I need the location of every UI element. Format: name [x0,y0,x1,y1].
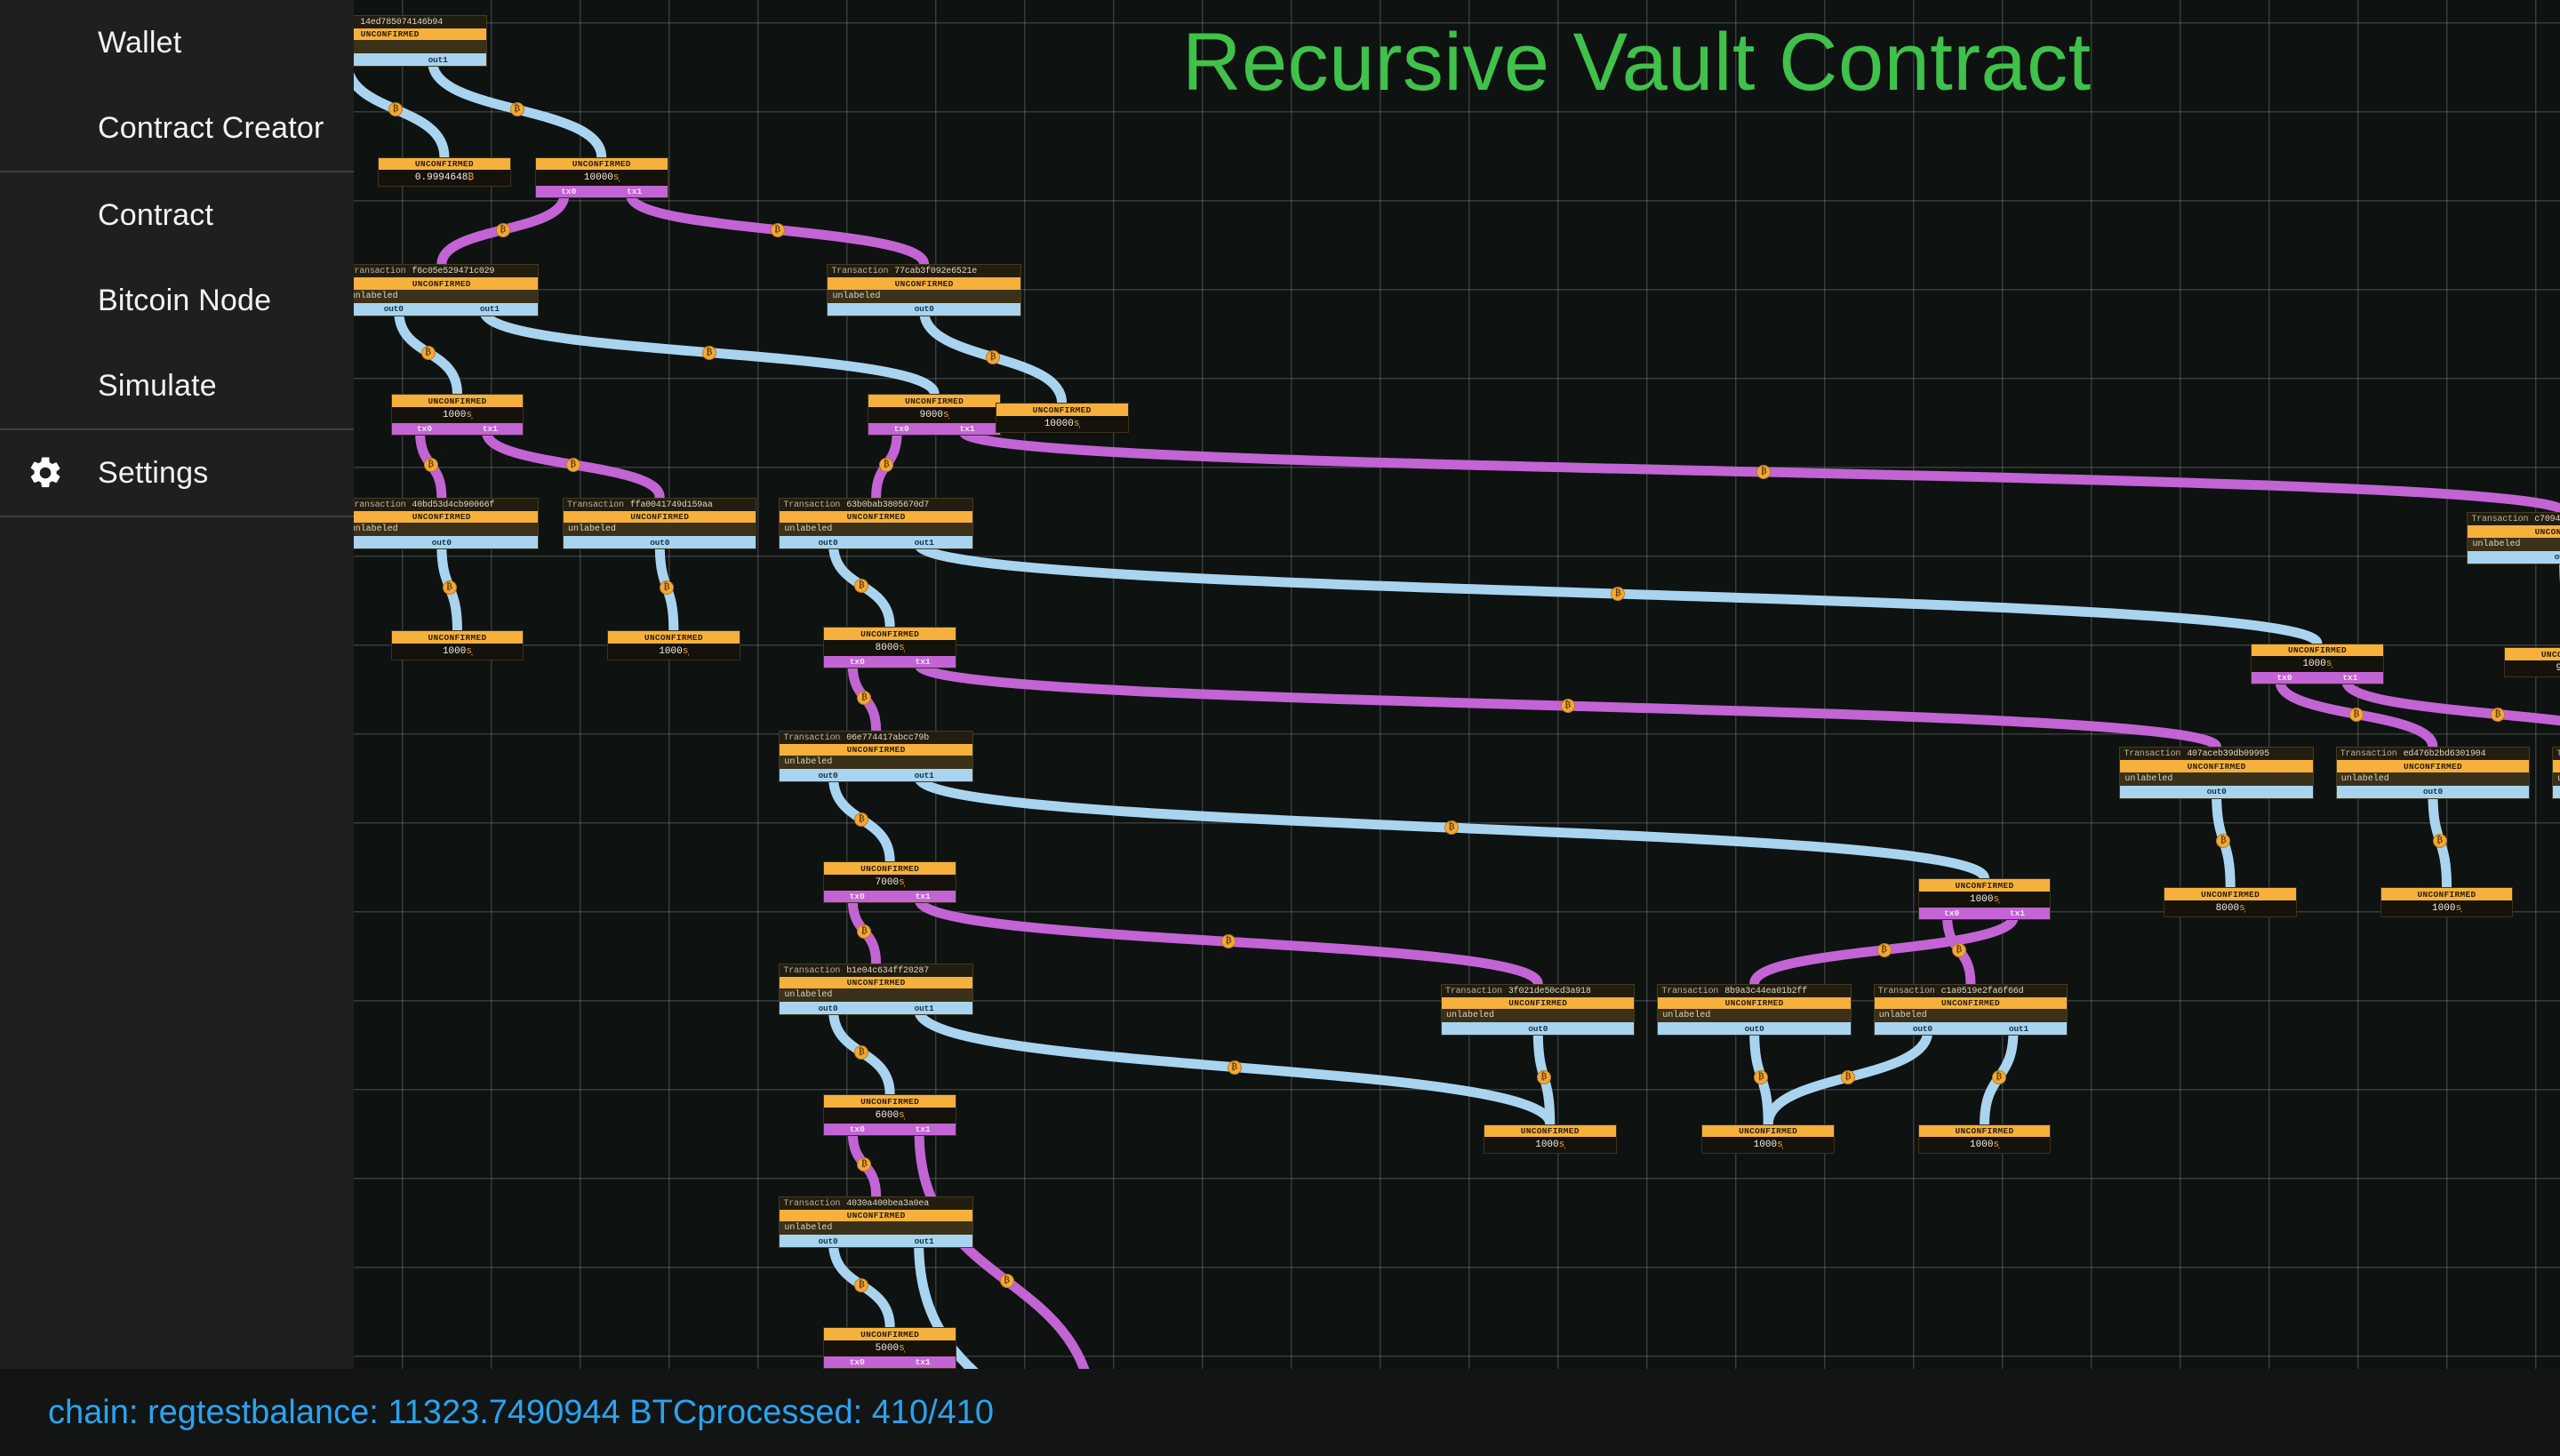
status-bar: chain: regtestbalance: 11323.7490944 BTC… [0,1369,2560,1456]
transaction-node[interactable]: Transaction2b00d25944e4d977UNCONFIRMEDun… [2552,747,2560,799]
utxo-amount: 10000s̩ [996,416,1128,432]
coin-marker: ₿ [2433,834,2447,848]
transaction-prefix: Transaction [783,966,840,976]
utxo-amount-value: 1000 [1754,1140,1777,1150]
coin-marker: ₿ [566,458,580,472]
transaction-prefix: Transaction [2124,749,2180,759]
status-badge: UNCONFIRMED [824,1095,956,1108]
utxo-amount: 1000s̩ [1919,1137,2051,1153]
sidebar-item-label: Contract [98,198,213,233]
transaction-hash: 63b0bab3805670d7 [846,500,929,510]
status-badge: UNCONFIRMED [868,395,1000,407]
transaction-hash: c70942c9030b73d5 [2534,515,2560,524]
coin-marker: ₿ [1952,943,1966,957]
utxo-unit-symbol: s̩ [2455,903,2461,914]
sidebar-item-settings[interactable]: Settings [0,430,354,516]
coin-marker: ₿ [1841,1070,1855,1084]
coin-marker: ₿ [1992,1070,2006,1084]
transaction-prefix: Transaction [354,267,405,276]
transaction-hash: f6c05e529471c029 [412,267,494,276]
transaction-label: funding [354,40,486,53]
transaction-header: Transactionb1e04c634ff20287 [780,964,972,977]
status-badge: UNCONFIRMED [1919,879,2051,892]
coin-marker: ₿ [879,458,893,472]
transaction-outputs-row[interactable]: out0 [2468,551,2560,564]
output-port-0[interactable]: out0 [780,538,876,548]
utxo-amount: 10000s̩ [536,170,668,186]
output-port-0[interactable]: out0 [354,304,442,314]
page-title: Recursive Vault Contract [1182,16,2092,109]
status-badge: UNCONFIRMED [824,862,956,875]
status-badge: UNCONFIRMED [780,1210,972,1222]
utxo-spends-row[interactable]: tx0tx1 [824,891,956,902]
transaction-prefix: Transaction [783,1199,840,1209]
spend-port-0[interactable]: tx0 [824,656,890,668]
utxo-node[interactable]: UNCONFIRMED9000s̩tx0tx1 [868,394,1001,436]
transaction-node[interactable]: Transaction407aceb39db09995UNCONFIRMEDun… [2119,747,2313,799]
utxo-amount: 9000s̩ [868,407,1000,423]
transaction-hash: 77cab3f092e6521e [894,267,977,276]
transaction-label: unlabeled [1658,1009,1850,1022]
transaction-prefix: Transaction [783,500,840,510]
transaction-label: unlabeled [780,523,972,536]
transaction-header: Transaction4030a400bea3a0ea [780,1197,972,1210]
status-badge: UNCONFIRMED [780,511,972,524]
utxo-amount: 1000s̩ [392,407,524,423]
spend-port-1[interactable]: tx1 [890,1124,956,1135]
utxo-node[interactable]: UNCONFIRMED5000s̩tx0tx1 [823,1327,956,1369]
graph-edges [354,0,2560,1369]
sidebar-item-contract[interactable]: Contract [0,172,354,258]
transaction-header: Transaction77cab3f092e6521e [828,265,1020,277]
status-badge: UNCONFIRMED [2468,525,2560,538]
spend-port-0[interactable]: tx0 [1919,908,1985,919]
utxo-node[interactable]: UNCONFIRMED8000s̩tx0tx1 [823,627,956,668]
output-port-0[interactable]: out0 [354,55,390,65]
transaction-header: Transaction3f021de50cd3a918 [1442,985,1634,997]
transaction-label: unlabeled [564,523,756,536]
coin-marker: ₿ [854,579,868,593]
utxo-amount-value: 1000 [2432,903,2455,914]
status-badge: UNCONFIRMED [1919,1125,2051,1138]
spend-port-1[interactable]: tx1 [934,423,1000,435]
utxo-unit-symbol: s̩ [1777,1140,1783,1150]
status-badge: UNCONFIRMED [2164,888,2296,900]
status-badge: UNCONFIRMED [780,977,972,989]
output-port-0[interactable]: out0 [780,771,876,780]
utxo-amount-value: 1000 [2302,659,2325,669]
transaction-label: unlabeled [1875,1009,2067,1022]
utxo-amount-value: 8000 [876,643,899,653]
utxo-unit-symbol: s̩ [899,1343,905,1354]
transaction-header: Transactionc70942c9030b73d5 [2468,513,2560,525]
output-port-0[interactable]: out0 [2120,787,2312,796]
utxo-amount-value: 8000 [2216,903,2239,914]
utxo-node[interactable]: UNCONFIRMED1000s̩ [607,630,740,660]
spend-port-1[interactable]: tx1 [2317,672,2383,684]
utxo-unit-symbol: s̩ [613,172,620,183]
transaction-prefix: Transaction [1445,987,1502,996]
utxo-unit-symbol: s̩ [1993,1140,1999,1150]
transaction-outputs-row[interactable]: out0 [2120,786,2312,798]
coin-marker: ₿ [1537,1070,1551,1084]
utxo-amount-value: 1000 [659,646,682,657]
transaction-node[interactable]: Transactionc1a0519e2fa6f66dUNCONFIRMEDun… [1874,984,2068,1036]
transaction-node[interactable]: Transaction63b0bab3805670d7UNCONFIRMEDun… [779,498,972,550]
utxo-amount: 8000s̩ [824,640,956,656]
coin-marker: ₿ [771,223,785,237]
output-port-0[interactable]: out0 [1442,1024,1634,1034]
utxo-unit-symbol: ₿ [468,172,474,183]
sidebar-item-wallet[interactable]: Wallet [0,0,354,85]
utxo-amount: 6000s̩ [824,1108,956,1124]
sidebar-item-label: Settings [98,456,208,491]
utxo-amount: 8000s̩ [2164,900,2296,916]
transaction-label: unlabeled [780,1221,972,1235]
transaction-label: unlabeled [2120,772,2312,786]
output-port-1[interactable]: out1 [876,771,972,780]
utxo-unit-symbol: s̩ [2326,659,2332,669]
utxo-amount: 1000s̩ [2381,900,2513,916]
utxo-spends-row[interactable]: tx0tx1 [824,1356,956,1368]
utxo-amount-value: 1000 [1535,1140,1558,1150]
transaction-label: unlabeled [354,523,538,536]
coin-marker: ₿ [1000,1274,1014,1288]
utxo-amount: 0.9994648₿ [379,170,510,186]
status-badge: UNCONFIRMED [379,158,510,171]
utxo-unit-symbol: s̩ [899,877,905,888]
utxo-unit-symbol: s̩ [466,410,472,420]
utxo-node[interactable]: UNCONFIRMED1000s̩ [1701,1124,1835,1155]
spend-port-0[interactable]: tx0 [2252,672,2317,684]
output-port-1[interactable]: out1 [876,1236,972,1246]
status-badge: UNCONFIRMED [1702,1125,1834,1138]
coin-marker: ₿ [1877,943,1892,957]
utxo-amount: 1000s̩ [1919,892,2051,908]
transaction-node[interactable]: Transaction8b9a3c44ea01b2ffUNCONFIRMEDun… [1657,984,1851,1036]
status-badge: UNCONFIRMED [1442,997,1634,1010]
spend-port-0[interactable]: tx0 [824,891,890,902]
utxo-amount: 9000s̩ [2505,660,2560,676]
transaction-outputs-row[interactable]: out0out1 [780,769,972,781]
utxo-amount: 1000s̩ [1702,1137,1834,1153]
gear-icon [27,454,73,492]
status-badge: UNCONFIRMED [608,631,740,644]
status-badge: UNCONFIRMED [2553,760,2560,772]
transaction-hash: 3f021de50cd3a918 [1508,987,1591,996]
transaction-header: Transactioned476b2bd6301904 [2337,748,2529,760]
coin-marker: ₿ [2491,708,2505,722]
utxo-node[interactable]: UNCONFIRMED1000s̩tx0tx1 [391,394,524,436]
output-port-0[interactable]: out0 [780,1236,876,1246]
spend-port-0[interactable]: tx0 [392,423,458,435]
output-port-1[interactable]: out1 [390,55,486,65]
transaction-outputs-row[interactable]: out0out1 [1875,1022,2067,1035]
transaction-label: unlabeled [780,988,972,1002]
utxo-node[interactable]: UNCONFIRMED1000s̩ [1918,1124,2052,1155]
utxo-amount-value: 1000 [1970,1140,1993,1150]
output-port-1[interactable]: out1 [1971,1024,2067,1034]
utxo-unit-symbol: s̩ [2239,903,2245,914]
transaction-prefix: Transaction [2340,749,2397,759]
transaction-outputs-row[interactable]: out0 [354,536,538,548]
transaction-hash: ed476b2bd6301904 [2404,749,2486,759]
status-badge: UNCONFIRMED [564,511,756,524]
transaction-prefix: Transaction [831,267,888,276]
transaction-prefix: Transaction [783,733,840,743]
utxo-amount-value: 1000 [1970,894,1993,905]
transaction-outputs-row[interactable]: out0out1 [780,1002,972,1014]
transaction-node[interactable]: Transaction06e774417abcc79bUNCONFIRMEDun… [779,731,972,783]
spend-port-1[interactable]: tx1 [602,186,668,197]
coin-marker: ₿ [424,458,438,472]
coin-marker: ₿ [2349,708,2364,722]
utxo-amount-value: 7000 [876,877,899,888]
utxo-node[interactable]: UNCONFIRMED1000s̩ [391,630,524,660]
transaction-prefix: Transaction [2556,749,2560,759]
transaction-node[interactable]: Transaction77cab3f092e6521eUNCONFIRMEDun… [827,264,1020,316]
status-badge: UNCONFIRMED [996,404,1128,416]
utxo-spends-row[interactable]: tx0tx1 [868,423,1000,435]
coin-marker: ₿ [1228,1060,1242,1075]
output-port-0[interactable]: out0 [354,538,538,548]
output-port-0[interactable]: out0 [1875,1024,1971,1034]
spend-port-0[interactable]: tx0 [824,1124,890,1135]
transaction-hash: ffa0041749d159aa [630,500,713,510]
transaction-prefix: Transaction [354,500,405,510]
transaction-header: Transaction14ed785074146b94 [354,16,486,28]
utxo-amount-value: 5000 [876,1343,899,1354]
transaction-node[interactable]: Transaction14ed785074146b94UNCONFIRMEDfu… [354,15,487,68]
status-badge: UNCONFIRMED [2505,648,2560,660]
coin-marker: ₿ [1561,699,1575,713]
sidebar-item-contract-creator[interactable]: Contract Creator [0,85,354,171]
sidebar-item-simulate[interactable]: Simulate [0,343,354,428]
utxo-node[interactable]: UNCONFIRMED1000s̩tx0tx1 [2251,644,2384,685]
output-port-1[interactable]: out1 [876,538,972,548]
transaction-node[interactable]: Transactioned476b2bd6301904UNCONFIRMEDun… [2336,747,2530,799]
utxo-amount: 1000s̩ [392,644,524,660]
transaction-hash: 4030a400bea3a0ea [846,1199,929,1209]
transaction-label: unlabeled [354,290,538,303]
coin-marker: ₿ [496,223,510,237]
transaction-hash: 14ed785074146b94 [360,18,443,28]
transaction-hash: b1e04c634ff20287 [846,966,929,976]
status-badge: UNCONFIRMED [1658,997,1850,1010]
transaction-outputs-row[interactable]: out0 [828,303,1020,316]
coin-marker: ₿ [702,346,716,360]
utxo-spends-row[interactable]: tx0tx1 [824,1124,956,1135]
coin-marker: ₿ [510,102,524,116]
output-port-0[interactable]: out0 [2553,787,2560,796]
sidebar-group-bottom: Settings [0,430,354,517]
transaction-header: Transactionffa0041749d159aa [564,499,756,511]
utxo-amount-value: 10000 [584,172,613,183]
utxo-amount-value: 1000 [443,410,466,420]
transaction-prefix: Transaction [1661,987,1718,996]
transaction-prefix: Transaction [2471,515,2528,524]
status-badge: UNCONFIRMED [2252,644,2383,657]
status-badge: UNCONFIRMED [392,631,524,644]
utxo-amount-value: 9000 [920,410,943,420]
status-badge: UNCONFIRMED [392,395,524,407]
utxo-amount-value: 9000 [2556,663,2560,674]
transaction-node[interactable]: Transaction4030a400bea3a0eaUNCONFIRMEDun… [779,1196,972,1249]
output-port-0[interactable]: out0 [564,538,756,548]
coin-marker: ₿ [421,346,436,360]
status-badge: UNCONFIRMED [1484,1125,1616,1138]
transaction-node[interactable]: Transaction40bd53d4cb90066fUNCONFIRMEDun… [354,498,539,550]
utxo-node[interactable]: UNCONFIRMED1000s̩tx0tx1 [1918,878,2052,920]
output-port-0[interactable]: out0 [828,304,1020,314]
status-badge: UNCONFIRMED [354,277,538,290]
spend-port-1[interactable]: tx1 [457,423,523,435]
transaction-label: unlabeled [2553,772,2560,786]
transaction-header: Transaction2b00d25944e4d977 [2553,748,2560,760]
coin-marker: ₿ [443,580,457,595]
transaction-outputs-row[interactable]: out0out1 [780,1235,972,1247]
status-badge: UNCONFIRMED [780,744,972,756]
transaction-header: Transaction407aceb39db09995 [2120,748,2312,760]
transaction-outputs-row[interactable]: out0 [1442,1022,1634,1035]
utxo-amount: 7000s̩ [824,875,956,891]
transaction-hash: 407aceb39db09995 [2187,749,2269,759]
transaction-header: Transaction63b0bab3805670d7 [780,499,972,511]
output-port-1[interactable]: out1 [442,304,538,314]
spend-port-1[interactable]: tx1 [890,1356,956,1368]
status-badge: UNCONFIRMED [824,1328,956,1340]
utxo-unit-symbol: s̩ [683,646,689,657]
sidebar-group-top: Wallet Contract Creator [0,0,354,172]
utxo-node[interactable]: UNCONFIRMED0.9994648₿ [378,157,511,188]
transaction-hash: c1a0519e2fa6f66d [1941,987,2024,996]
transaction-prefix: Transaction [1878,987,1935,996]
transaction-label: unlabeled [828,290,1020,303]
sidebar-item-label: Wallet [98,26,181,60]
transaction-header: Transactionf6c05e529471c029 [354,265,538,277]
spend-port-1[interactable]: tx1 [1985,908,2051,919]
transaction-hash: 06e774417abcc79b [846,733,929,743]
spend-port-1[interactable]: tx1 [890,656,956,668]
transaction-header: Transaction40bd53d4cb90066f [354,499,538,511]
utxo-unit-symbol: s̩ [899,1110,905,1121]
status-badge: UNCONFIRMED [828,277,1020,290]
utxo-spends-row[interactable]: tx0tx1 [2252,672,2383,684]
transaction-label: unlabeled [2337,772,2529,786]
utxo-unit-symbol: s̩ [899,643,905,653]
transaction-prefix: Transaction [567,500,624,510]
transaction-label: unlabeled [1442,1009,1634,1022]
coin-marker: ₿ [986,350,1000,364]
transaction-node[interactable]: Transactionc70942c9030b73d5UNCONFIRMEDun… [2467,512,2560,564]
utxo-amount: 1000s̩ [2252,656,2383,672]
utxo-amount: 5000s̩ [824,1340,956,1356]
spend-port-1[interactable]: tx1 [890,891,956,902]
status-badge: UNCONFIRMED [2381,888,2513,900]
utxo-unit-symbol: s̩ [466,646,472,657]
utxo-amount-value: 0.9994648 [415,172,468,183]
utxo-node[interactable]: UNCONFIRMED1000s̩ [2380,887,2514,917]
sidebar-group-middle: Contract Bitcoin Node Simulate [0,172,354,430]
utxo-spends-row[interactable]: tx0tx1 [824,656,956,668]
transaction-outputs-row[interactable]: out0 [2337,786,2529,798]
utxo-node[interactable]: UNCONFIRMED8000s̩ [2164,887,2297,917]
transaction-header: Transaction8b9a3c44ea01b2ff [1658,985,1850,997]
utxo-unit-symbol: s̩ [1074,419,1080,429]
utxo-node[interactable]: UNCONFIRMED9000s̩ [2504,647,2560,677]
spend-port-0[interactable]: tx0 [824,1356,890,1368]
utxo-spends-row[interactable]: tx0tx1 [536,186,668,197]
utxo-spends-row[interactable]: tx0tx1 [392,423,524,435]
transaction-hash: 8b9a3c44ea01b2ff [1724,987,1807,996]
utxo-node[interactable]: UNCONFIRMED6000s̩tx0tx1 [823,1094,956,1136]
utxo-amount-value: 6000 [876,1110,899,1121]
sidebar-item-bitcoin-node[interactable]: Bitcoin Node [0,258,354,343]
sidebar-item-label: Bitcoin Node [98,284,271,318]
coin-marker: ₿ [660,580,674,595]
graph-canvas[interactable]: Transaction14ed785074146b94UNCONFIRMEDfu… [354,0,2560,1369]
output-port-0[interactable]: out0 [2468,552,2560,562]
utxo-amount: 1000s̩ [1484,1137,1616,1153]
utxo-unit-symbol: s̩ [943,410,949,420]
utxo-unit-symbol: s̩ [1993,894,1999,905]
utxo-node[interactable]: UNCONFIRMED1000s̩ [1484,1124,1617,1155]
sidebar-item-label: Contract Creator [98,111,324,146]
transaction-node[interactable]: Transactionffa0041749d159aaUNCONFIRMEDun… [563,498,756,550]
transaction-node[interactable]: Transaction3f021de50cd3a918UNCONFIRMEDun… [1441,984,1635,1036]
transaction-node[interactable]: Transactionf6c05e529471c029UNCONFIRMEDun… [354,264,539,316]
utxo-amount-value: 1000 [443,646,466,657]
transaction-header: Transaction06e774417abcc79b [780,732,972,744]
output-port-1[interactable]: out1 [876,1004,972,1013]
spend-port-0[interactable]: tx0 [536,186,602,197]
utxo-spends-row[interactable]: tx0tx1 [1919,908,2051,919]
app-root: Wallet Contract Creator Contract Bitcoin… [0,0,2560,1456]
status-badge: UNCONFIRMED [354,511,538,524]
output-port-0[interactable]: out0 [2337,787,2529,796]
transaction-outputs-row[interactable]: out0out1 [354,303,538,316]
utxo-node[interactable]: UNCONFIRMED7000s̩tx0tx1 [823,861,956,903]
transaction-header: Transactionc1a0519e2fa6f66d [1875,985,2067,997]
transaction-node[interactable]: Transactionb1e04c634ff20287UNCONFIRMEDun… [779,964,972,1016]
transaction-outputs-row[interactable]: out0 [1658,1022,1850,1035]
transaction-outputs-row[interactable]: out0 [564,536,756,548]
transaction-hash: 40bd53d4cb90066f [412,500,494,510]
status-badge: UNCONFIRMED [354,28,486,41]
status-badge: UNCONFIRMED [1875,997,2067,1010]
utxo-unit-symbol: s̩ [1559,1140,1565,1150]
transaction-outputs-row[interactable]: out0out1 [780,536,972,548]
status-text: chain: regtestbalance: 11323.7490944 BTC… [48,1394,994,1432]
utxo-amount-value: 10000 [1044,419,1074,429]
spend-port-0[interactable]: tx0 [868,423,934,435]
status-badge: UNCONFIRMED [824,628,956,640]
transaction-outputs-row[interactable]: out0 [2553,786,2560,798]
output-port-0[interactable]: out0 [1658,1024,1850,1034]
status-badge: UNCONFIRMED [2120,760,2312,772]
output-port-0[interactable]: out0 [780,1004,876,1013]
status-badge: UNCONFIRMED [536,158,668,171]
transaction-outputs-row[interactable]: out0out1 [354,53,486,66]
transaction-label: unlabeled [780,756,972,769]
transaction-label: unlabeled [2468,538,2560,551]
utxo-node[interactable]: UNCONFIRMED10000s̩ [996,403,1129,433]
status-badge: UNCONFIRMED [2337,760,2529,772]
sidebar: Wallet Contract Creator Contract Bitcoin… [0,0,354,1369]
utxo-node[interactable]: UNCONFIRMED10000s̩tx0tx1 [535,157,668,199]
utxo-amount: 1000s̩ [608,644,740,660]
sidebar-item-label: Simulate [98,369,217,404]
